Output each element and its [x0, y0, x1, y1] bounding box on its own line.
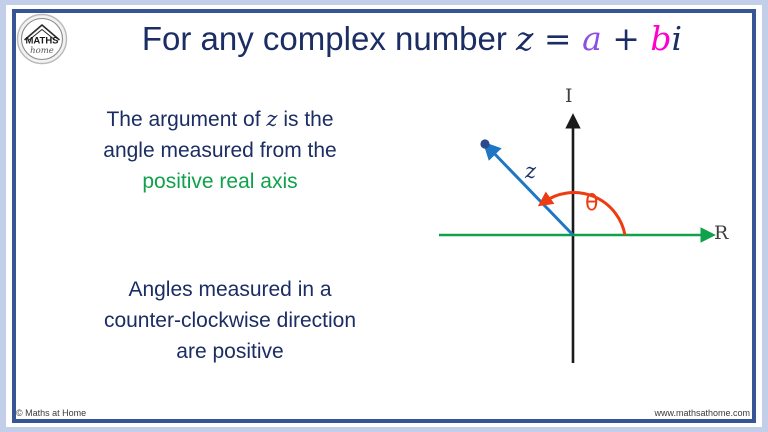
imaginary-axis-label: I: [565, 85, 573, 107]
title-var-a: a: [582, 19, 602, 58]
vector-z-label: z: [525, 159, 536, 183]
footer-website[interactable]: www.mathsathome.com: [654, 408, 750, 418]
title-plus: +: [602, 19, 651, 58]
title-equals: =: [533, 19, 582, 58]
paragraph2-line1: Angles measured in a: [40, 274, 420, 305]
paragraph2-line2: counter-clockwise direction: [40, 305, 420, 336]
paragraph1-line1: The argument of z is the: [40, 104, 400, 135]
paragraph2-line3: are positive: [40, 336, 420, 367]
real-axis-label: R: [714, 222, 728, 244]
paragraph1-line1-pre: The argument of: [106, 108, 266, 131]
logo-bottom-text: home: [30, 46, 54, 56]
paragraph1-line3-highlight: positive real axis: [40, 166, 400, 197]
footer-copyright: © Maths at Home: [16, 408, 86, 418]
argument-definition-text: The argument of z is the angle measured …: [40, 104, 400, 197]
title-var-z: z: [516, 19, 533, 58]
paragraph1-line2: angle measured from the: [40, 135, 400, 166]
angle-direction-text: Angles measured in a counter-clockwise d…: [40, 274, 420, 367]
angle-theta-label: θ: [585, 191, 598, 216]
page-title: For any complex number z = a + bi: [72, 18, 752, 60]
paragraph1-line1-post: is the: [277, 108, 333, 131]
maths-at-home-logo: MATHS home: [16, 13, 68, 65]
paragraph1-var-z: z: [266, 107, 277, 131]
slide-canvas: MATHS home For any complex number z = a …: [0, 0, 768, 432]
logo-top-text: MATHS: [25, 36, 58, 47]
title-prefix: For any complex number: [142, 20, 516, 57]
title-var-i: i: [672, 19, 683, 58]
point-z: [480, 139, 489, 148]
title-var-b: b: [650, 19, 671, 58]
argand-diagram: [420, 80, 740, 380]
